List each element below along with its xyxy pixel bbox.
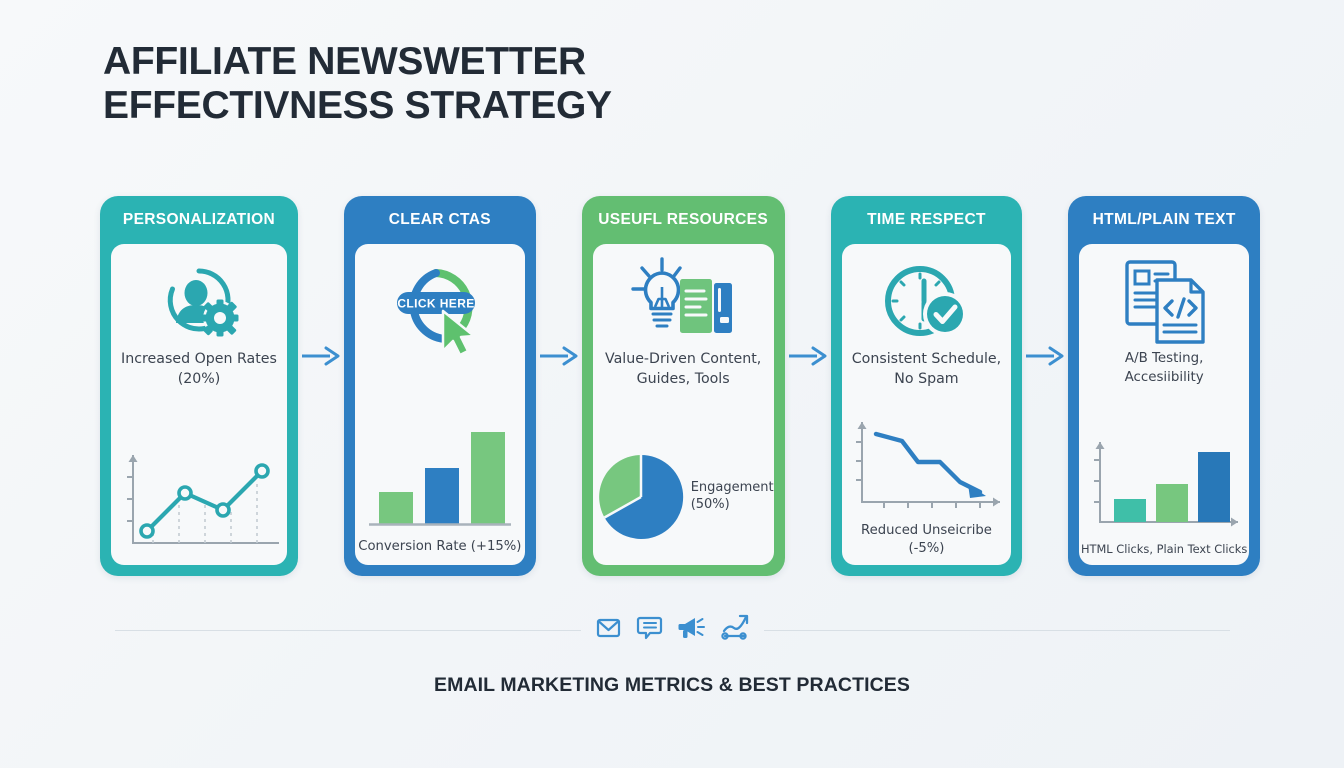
pie-label-engagement: Engagement (50%): [691, 480, 774, 514]
card-description-time-respect: Consistent Schedule, No Spam: [842, 350, 1012, 389]
card-header-clear-ctas: CLEAR CTAS: [344, 196, 536, 244]
footer-caption: EMAIL MARKETING METRICS & BEST PRACTICES: [434, 674, 910, 697]
footer: EMAIL MARKETING METRICS & BEST PRACTICES: [0, 614, 1344, 697]
card-body-useful-resources: Value-Driven Content, Guides, Tools Enga…: [593, 244, 774, 565]
click-here-label: CLICK HERE: [397, 297, 474, 311]
documents-code-icon: [1115, 256, 1213, 348]
viz-caption-html-plain-clicks: HTML Clicks, Plain Text Clicks: [1081, 542, 1247, 557]
click-here-cursor-icon[interactable]: CLICK HERE: [384, 256, 496, 366]
chat-bubble-icon: [636, 614, 663, 646]
footer-divider: [115, 614, 1230, 646]
viz-caption-reduced-unsubscribe: Reduced Unseicribe (-5%): [842, 522, 1012, 557]
page-title-line-2: EFFECTIVNESS STRATEGY: [103, 84, 803, 128]
divider-line-left: [115, 630, 581, 631]
strategy-cards-row: PERSONALIZATION: [100, 196, 1260, 576]
viz-caption-conversion-rate: Conversion Rate (+15%): [358, 538, 521, 555]
megaphone-icon: [677, 615, 707, 645]
card-clear-ctas[interactable]: CLEAR CTAS CLICK HERE: [344, 196, 536, 576]
chart-line-open-rates: [111, 389, 287, 565]
card-useful-resources[interactable]: USEUFL RESOURCES: [582, 196, 785, 576]
arrow-4: [1022, 136, 1068, 576]
card-header-html-plain-text: HTML/PLAIN TEXT: [1068, 196, 1260, 244]
chart-bar-html-plain-clicks: HTML Clicks, Plain Text Clicks: [1079, 387, 1249, 565]
footer-icons: [595, 614, 750, 646]
lightbulb-books-icon: [628, 256, 738, 348]
growth-arrow-icon: [721, 614, 750, 646]
card-personalization[interactable]: PERSONALIZATION: [100, 196, 298, 576]
card-body-clear-ctas: CLICK HERE Conversion Rate (+15%): [355, 244, 525, 565]
arrow-2: [536, 136, 582, 576]
envelope-icon: [595, 615, 622, 645]
card-description-html-plain-text: A/B Testing, Accesiibility: [1079, 350, 1249, 387]
arrow-3: [785, 136, 831, 576]
chart-pie-engagement: Engagement (50%): [593, 389, 774, 565]
chart-line-reduced-unsubscribe: Reduced Unseicribe (-5%): [842, 389, 1012, 565]
card-body-time-respect: Consistent Schedule, No Spam: [842, 244, 1012, 565]
divider-line-right: [764, 630, 1230, 631]
arrow-1: [298, 136, 344, 576]
card-header-personalization: PERSONALIZATION: [100, 196, 298, 244]
user-gear-icon: [156, 256, 242, 348]
clock-check-icon: [880, 256, 972, 348]
page-title: AFFILIATE NEWSWETTER EFFECTIVNESS STRATE…: [103, 40, 803, 127]
page-title-line-1: AFFILIATE NEWSWETTER: [103, 40, 803, 84]
card-body-html-plain-text: A/B Testing, Accesiibility HTML Clicks,: [1079, 244, 1249, 565]
chart-bar-conversion-rate: Conversion Rate (+15%): [355, 366, 525, 565]
card-html-plain-text[interactable]: HTML/PLAIN TEXT: [1068, 196, 1260, 576]
card-description-useful-resources: Value-Driven Content, Guides, Tools: [593, 350, 774, 389]
pie-label-line-2: (50%): [691, 497, 774, 514]
pie-label-line-1: Engagement: [691, 480, 774, 497]
card-description-personalization: Increased Open Rates (20%): [111, 350, 287, 389]
card-header-time-respect: TIME RESPECT: [831, 196, 1023, 244]
card-header-useful-resources: USEUFL RESOURCES: [582, 196, 785, 244]
card-time-respect[interactable]: TIME RESPECT: [831, 196, 1023, 576]
card-body-personalization: Increased Open Rates (20%): [111, 244, 287, 565]
